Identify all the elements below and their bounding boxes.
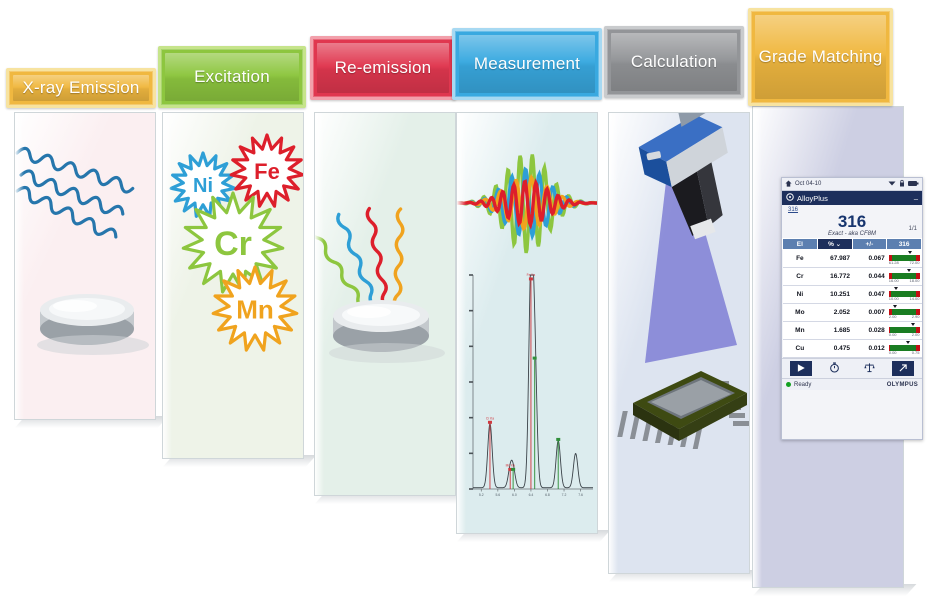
- cell-percent: 0.475: [817, 340, 852, 358]
- toolbar-play-icon[interactable]: [790, 361, 812, 376]
- timer-icon: [829, 360, 840, 378]
- table-row[interactable]: Cr16.7720.04416.0018.00: [783, 268, 922, 286]
- cell-range-gauge: 10.0014.00: [887, 286, 922, 304]
- toolbar-export-arrow-icon[interactable]: [892, 361, 914, 376]
- infographic-stage: X-ray EmissionNiFeCrMnExcitationRe-emiss…: [0, 0, 927, 525]
- cell-percent: 10.251: [817, 286, 852, 304]
- gauge-labels: 61.2872.00: [889, 261, 920, 266]
- gauge-marker: [894, 287, 898, 290]
- brand-label: OLYMPUS: [887, 382, 918, 388]
- device-toolbar: [782, 358, 922, 378]
- cell-tolerance: 0.047: [852, 286, 887, 304]
- gauge-max: 72.00: [909, 260, 919, 265]
- x-tick-label: 6.8: [545, 493, 550, 497]
- cell-element: Ni: [783, 286, 818, 304]
- wifi-icon: [888, 180, 896, 189]
- gauge-min: 10.00: [889, 296, 899, 301]
- x-tick-label: 6.4: [529, 493, 534, 497]
- step-chip-label: Measurement: [468, 54, 586, 73]
- step-chip-grade-matching[interactable]: Grade Matching: [748, 8, 893, 106]
- gauge-max: 14.00: [909, 296, 919, 301]
- page-indicator: 1/1: [909, 226, 917, 232]
- balance-icon: [864, 360, 875, 378]
- gauge-marker: [907, 269, 911, 272]
- cell-element: Mn: [783, 322, 818, 340]
- step-chip-label: Excitation: [188, 67, 276, 86]
- cell-tolerance: 0.012: [852, 340, 887, 358]
- x-tick-label: 6.0: [512, 493, 517, 497]
- cell-element: Cu: [783, 340, 818, 358]
- cell-tolerance: 0.028: [852, 322, 887, 340]
- panel-body-re-emission: [314, 112, 456, 496]
- gauge-labels: 10.0014.00: [889, 297, 920, 302]
- gauge-labels: 0.002.00: [889, 333, 920, 338]
- gauge-marker: [906, 341, 910, 344]
- step-chip-label: Calculation: [625, 52, 723, 71]
- status-dot: [786, 382, 791, 387]
- table-row[interactable]: Ni10.2510.04710.0014.00: [783, 286, 922, 304]
- measurement-spectrum: 5.25.66.06.46.87.27.6Cr KaMn KaFe Ka: [457, 263, 597, 513]
- gauge-max: 0.75: [912, 350, 920, 355]
- gauge-min: 0.00: [889, 350, 897, 355]
- cell-range-gauge: 0.000.75: [887, 340, 922, 358]
- panel-body-xray-emission: [14, 112, 156, 420]
- gauge-max: 2.00: [912, 332, 920, 337]
- cell-element: Fe: [783, 250, 818, 268]
- panel-re-emission: [314, 112, 454, 494]
- calculation-illustration: [609, 113, 749, 573]
- gauge-max: 18.00: [909, 278, 919, 283]
- x-tick-label: 7.2: [562, 493, 567, 497]
- peak-label: Fe Ka: [527, 273, 536, 277]
- status-text: Ready: [794, 382, 811, 388]
- step-chip-excitation[interactable]: Excitation: [158, 46, 306, 108]
- cell-tolerance: 0.067: [852, 250, 887, 268]
- cell-percent: 1.685: [817, 322, 852, 340]
- grade-result-header: 3161/1Exact - aka CF8M: [782, 213, 922, 238]
- step-chip-label: Grade Matching: [753, 47, 889, 66]
- panel-xray-emission: [14, 112, 154, 418]
- home-icon: [785, 180, 792, 189]
- burst-label: Fe: [254, 159, 280, 184]
- gauge-labels: 2.002.90: [889, 315, 920, 320]
- cell-tolerance: 0.044: [852, 268, 887, 286]
- table-header-1[interactable]: % ⌄: [817, 239, 852, 250]
- step-chip-label: Re-emission: [329, 58, 438, 77]
- gauge-min: 16.00: [889, 278, 899, 283]
- grade-value: 316: [782, 213, 922, 230]
- table-header-3[interactable]: 316: [887, 239, 922, 250]
- export-arrow-icon: [898, 360, 908, 378]
- gauge-marker: [908, 251, 912, 254]
- gauge-marker: [911, 323, 915, 326]
- results-table: El% ⌄+/-316Fe67.9870.06761.2872.00Cr16.7…: [782, 238, 922, 358]
- minimize-button[interactable]: –: [914, 194, 918, 203]
- cell-percent: 2.052: [817, 304, 852, 322]
- burst-label: Mn: [236, 294, 274, 324]
- panel-measurement: 5.25.66.06.46.87.27.6Cr KaMn KaFe Ka: [456, 112, 596, 532]
- cell-range-gauge: 61.2872.00: [887, 250, 922, 268]
- play-icon: [796, 360, 806, 378]
- table-row[interactable]: Mn1.6850.0280.002.00: [783, 322, 922, 340]
- xray-emission-illustration: [15, 113, 155, 419]
- lock-icon: [899, 179, 905, 189]
- cell-percent: 16.772: [817, 268, 852, 286]
- table-header-0[interactable]: El: [783, 239, 818, 250]
- toolbar-timer-icon[interactable]: [824, 361, 846, 376]
- cell-range-gauge: 16.0018.00: [887, 268, 922, 286]
- device-status-bar: Oct 04-10: [782, 178, 922, 191]
- x-tick-label: 5.2: [479, 493, 484, 497]
- device-footer: ReadyOLYMPUS: [782, 378, 922, 390]
- step-chip-re-emission[interactable]: Re-emission: [310, 36, 456, 100]
- device-title-bar: AlloyPlus–: [782, 191, 922, 205]
- battery-icon: [908, 180, 919, 189]
- table-row[interactable]: Mo2.0520.0072.002.90: [783, 304, 922, 322]
- cell-element: Mo: [783, 304, 818, 322]
- table-header-2[interactable]: +/-: [852, 239, 887, 250]
- table-row[interactable]: Fe67.9870.06761.2872.00: [783, 250, 922, 268]
- x-tick-label: 5.6: [495, 493, 500, 497]
- step-chip-label: X-ray Emission: [16, 78, 145, 97]
- peak-label: Mn Ka: [506, 463, 515, 467]
- gauge-labels: 0.000.75: [889, 351, 920, 356]
- grade-subtitle: Exact - aka CF8M: [782, 231, 922, 237]
- burst-label: Ni: [193, 175, 213, 197]
- cell-range-gauge: 2.002.90: [887, 304, 922, 322]
- toolbar-balance-icon[interactable]: [858, 361, 880, 376]
- cell-range-gauge: 0.002.00: [887, 322, 922, 340]
- status-date: Oct 04-10: [795, 181, 821, 187]
- panel-body-excitation: NiFeCrMn: [162, 112, 304, 459]
- burst-label: Cr: [214, 225, 252, 263]
- gauge-min: 2.00: [889, 314, 897, 319]
- gauge-max: 2.90: [912, 314, 920, 319]
- panel-body-calculation: [608, 112, 750, 574]
- gauge-min: 61.28: [889, 260, 899, 265]
- step-chip-calculation[interactable]: Calculation: [604, 26, 744, 98]
- peak-label: Cr Ka: [486, 416, 494, 420]
- gauge-labels: 16.0018.00: [889, 279, 920, 284]
- x-tick-label: 7.6: [578, 493, 583, 497]
- gauge-min: 0.00: [889, 332, 897, 337]
- panel-body-measurement: 5.25.66.06.46.87.27.6Cr KaMn KaFe Ka: [456, 112, 598, 534]
- panel-excitation: NiFeCrMn: [162, 112, 302, 457]
- handheld-device-screen: Oct 04-10AlloyPlus–3163161/1Exact - aka …: [781, 177, 923, 440]
- reemission-illustration: [315, 113, 455, 495]
- app-title: AlloyPlus: [797, 194, 828, 203]
- table-row[interactable]: Cu0.4750.0120.000.75: [783, 340, 922, 358]
- cell-percent: 67.987: [817, 250, 852, 268]
- excitation-illustration: NiFeCrMn: [163, 113, 303, 458]
- step-chip-xray-emission[interactable]: X-ray Emission: [6, 68, 156, 108]
- cell-element: Cr: [783, 268, 818, 286]
- gear-icon: [786, 193, 794, 203]
- cell-tolerance: 0.007: [852, 304, 887, 322]
- panel-calculation: [608, 112, 748, 572]
- gauge-marker: [893, 305, 897, 308]
- step-chip-measurement[interactable]: Measurement: [452, 28, 602, 100]
